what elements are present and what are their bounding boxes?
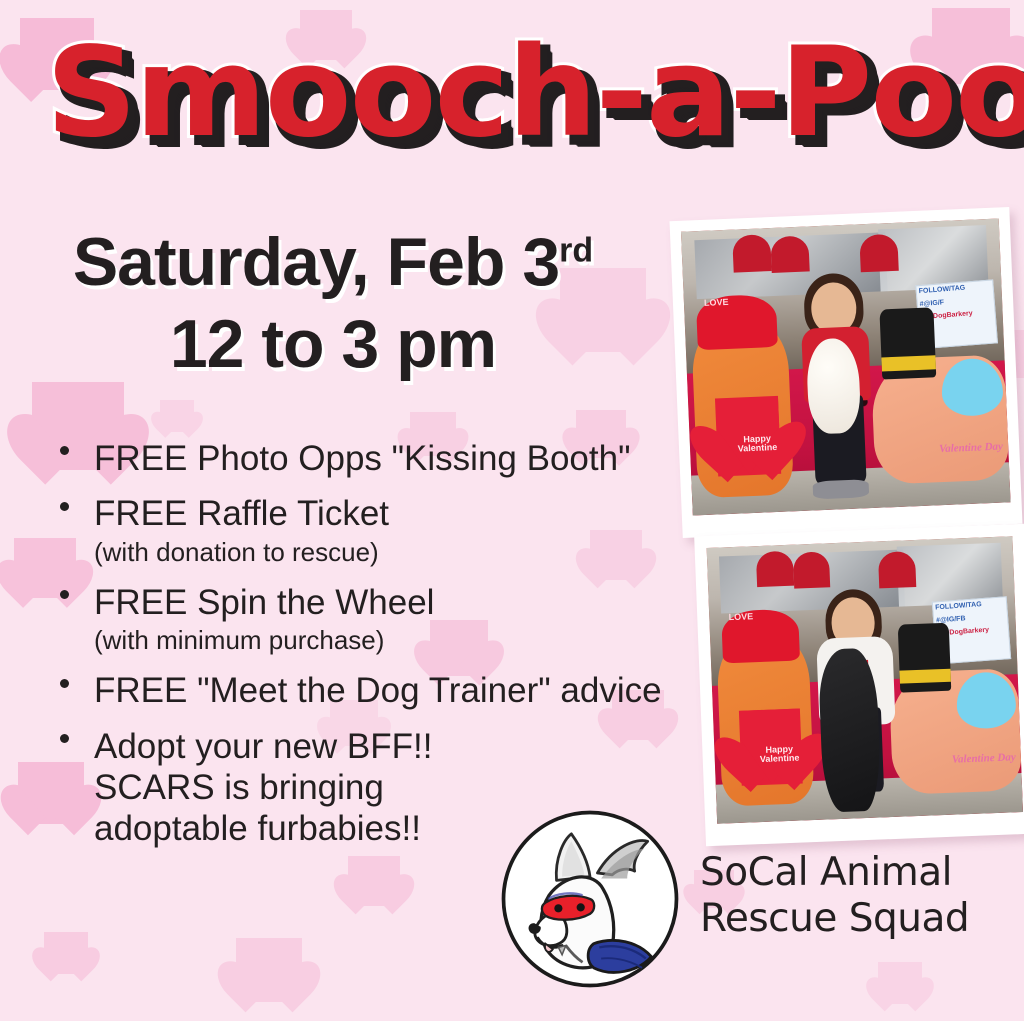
list-item-label: FREE "Meet the Dog Trainer" advice [94,670,732,711]
poster-canvas: Smooch-a-Pooch Saturday, Feb 3rd 12 to 3… [0,0,1024,1021]
list-item-label: FREE Photo Opps "Kissing Booth" [94,438,732,479]
scars-logo [497,806,683,992]
event-photo-top-image: FOLLOW/TAG #@IG/F TopDogBarkery LOVE Hap… [681,218,1011,515]
event-date-ordinal: rd [559,231,593,269]
inflatable-right-label: Valentine Day [952,751,1016,765]
list-item: FREE Spin the Wheel (with minimum purcha… [52,582,732,656]
list-item: FREE Photo Opps "Kissing Booth" [52,438,732,479]
inflatable-hat-label: LOVE [728,612,753,623]
decorative-heart [236,938,302,1002]
list-item: FREE "Meet the Dog Trainer" advice [52,670,732,711]
list-item-label: FREE Raffle Ticket [94,493,732,534]
inflatable-hat-label: LOVE [704,297,729,308]
organization-name-line-1: SoCal Animal [700,850,1000,896]
list-item-note: (with minimum purchase) [94,625,732,656]
decorative-heart [160,400,194,432]
poster-title: Smooch-a-Pooch [46,30,1005,156]
inflatable-heart-label: Happy Valentine [723,433,792,455]
event-date-line: Saturday, Feb 3rd [28,228,638,296]
bullet-dot-icon [60,590,69,599]
inflatable-right-label: Valentine Day [939,440,1003,455]
inflatable-dog-left: LOVE Happy Valentine [691,318,794,498]
bullet-dot-icon [60,502,69,511]
event-date-block: Saturday, Feb 3rd 12 to 3 pm [28,228,638,378]
decorative-heart [878,962,922,1004]
bullet-dot-icon [60,734,69,743]
bullet-dot-icon [60,446,69,455]
event-time-line: 12 to 3 pm [28,310,638,378]
organization-name: SoCal Animal Rescue Squad [700,850,1000,942]
event-date-text: Saturday, Feb 3 [73,224,559,300]
list-item-label: FREE Spin the Wheel [94,582,732,623]
bullet-dot-icon [60,679,69,688]
person-with-white-dog [798,281,877,500]
feature-list: FREE Photo Opps "Kissing Booth" FREE Raf… [52,438,732,863]
event-photo-bottom-image: FOLLOW/TAG #@IG/FB TopDogBarkery LOVE Ha… [707,536,1023,824]
inflatable-dog-right: Valentine Day [871,355,1010,485]
inflatable-dog-right: Valentine Day [889,669,1022,795]
person-with-black-dog [819,596,894,808]
inflatable-dog-left: LOVE Happy Valentine [716,632,814,807]
organization-name-line-2: Rescue Squad [700,896,1000,942]
decorative-heart [348,856,400,906]
decorative-heart [44,932,88,974]
event-photo-top: FOLLOW/TAG #@IG/F TopDogBarkery LOVE Hap… [670,207,1023,538]
chihuahua-superhero-icon [497,806,683,992]
inflatable-heart-label: Happy Valentine [746,744,813,765]
event-photo-bottom: FOLLOW/TAG #@IG/FB TopDogBarkery LOVE Ha… [694,524,1024,846]
list-item-note: (with donation to rescue) [94,537,732,568]
list-item: FREE Raffle Ticket (with donation to res… [52,493,732,567]
